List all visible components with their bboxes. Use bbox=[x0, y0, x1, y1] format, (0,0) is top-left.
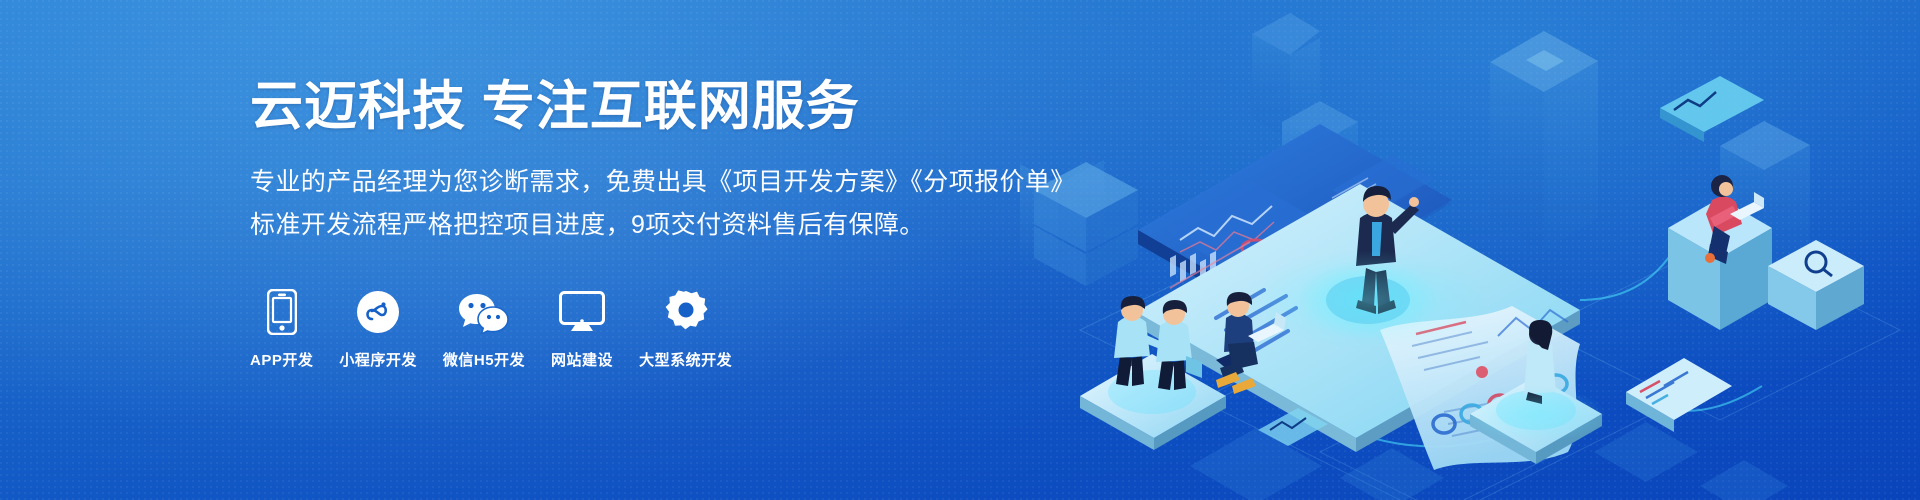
banner-headline: 云迈科技 专注互联网服务 bbox=[250, 78, 1076, 136]
service-label-wechat-h5: 微信H5开发 bbox=[443, 349, 525, 370]
code-card bbox=[1626, 358, 1732, 432]
service-item-large-system[interactable]: 大型系统开发 bbox=[639, 289, 732, 370]
hero-illustration bbox=[1020, 0, 1920, 500]
service-item-mini-program[interactable]: 小程序开发 bbox=[339, 289, 417, 370]
service-label-mini-program: 小程序开发 bbox=[339, 349, 417, 370]
service-list: APP开发 小程序开发 bbox=[250, 289, 1076, 370]
monitor-icon bbox=[559, 289, 605, 335]
smartphone-icon bbox=[267, 289, 297, 335]
service-item-website[interactable]: 网站建设 bbox=[551, 289, 613, 370]
banner-subline-2: 标准开发流程严格把控项目进度，9项交付资料售后有保障。 bbox=[250, 205, 1076, 246]
service-item-wechat-h5[interactable]: 微信H5开发 bbox=[443, 289, 525, 370]
service-label-large-system: 大型系统开发 bbox=[639, 349, 732, 370]
promotional-banner: 云迈科技 专注互联网服务 专业的产品经理为您诊断需求，免费出具《项目开发方案》《… bbox=[0, 0, 1920, 500]
banner-subline-1: 专业的产品经理为您诊断需求，免费出具《项目开发方案》《分项报价单》 bbox=[250, 162, 1076, 203]
service-label-website: 网站建设 bbox=[551, 349, 613, 370]
service-item-app[interactable]: APP开发 bbox=[250, 289, 313, 370]
service-label-app: APP开发 bbox=[250, 349, 313, 370]
mini-program-icon bbox=[356, 289, 400, 335]
banner-content: 云迈科技 专注互联网服务 专业的产品经理为您诊断需求，免费出具《项目开发方案》《… bbox=[250, 0, 1076, 500]
gear-icon bbox=[664, 289, 708, 335]
person-woman-laptop-pedestal bbox=[1668, 175, 1772, 330]
wechat-icon bbox=[458, 289, 510, 335]
